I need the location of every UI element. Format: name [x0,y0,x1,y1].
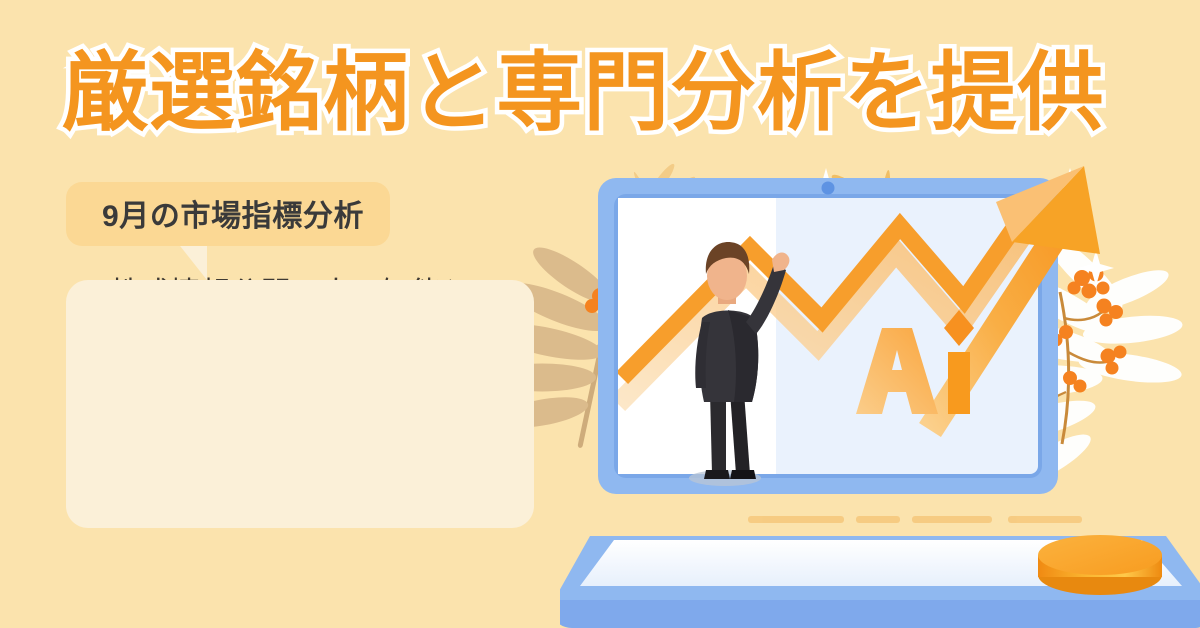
laptop-illustration [560,130,1200,628]
subtitle-badge-label: 9月の市場指標分析 [102,191,364,235]
ai-logo-letter-i [948,352,970,414]
laptop-keyboard-keys [748,516,1082,523]
businessman-shoe-right [730,470,756,479]
businessman-leg-left [710,392,726,474]
callout-body [66,280,534,528]
page-title: 厳選銘柄と専門分析を提供 [62,48,1104,138]
gold-coin [1038,535,1162,595]
laptop-deck-front [560,600,1200,628]
laptop-camera [822,182,835,195]
banner-canvas: 厳選銘柄と専門分析を提供 9月の市場指標分析 株式情報公開—人工知能とビッグデー… [0,0,1200,628]
businessman-shoe-left [704,470,730,479]
subtitle-badge: 9月の市場指標分析 [66,182,390,246]
